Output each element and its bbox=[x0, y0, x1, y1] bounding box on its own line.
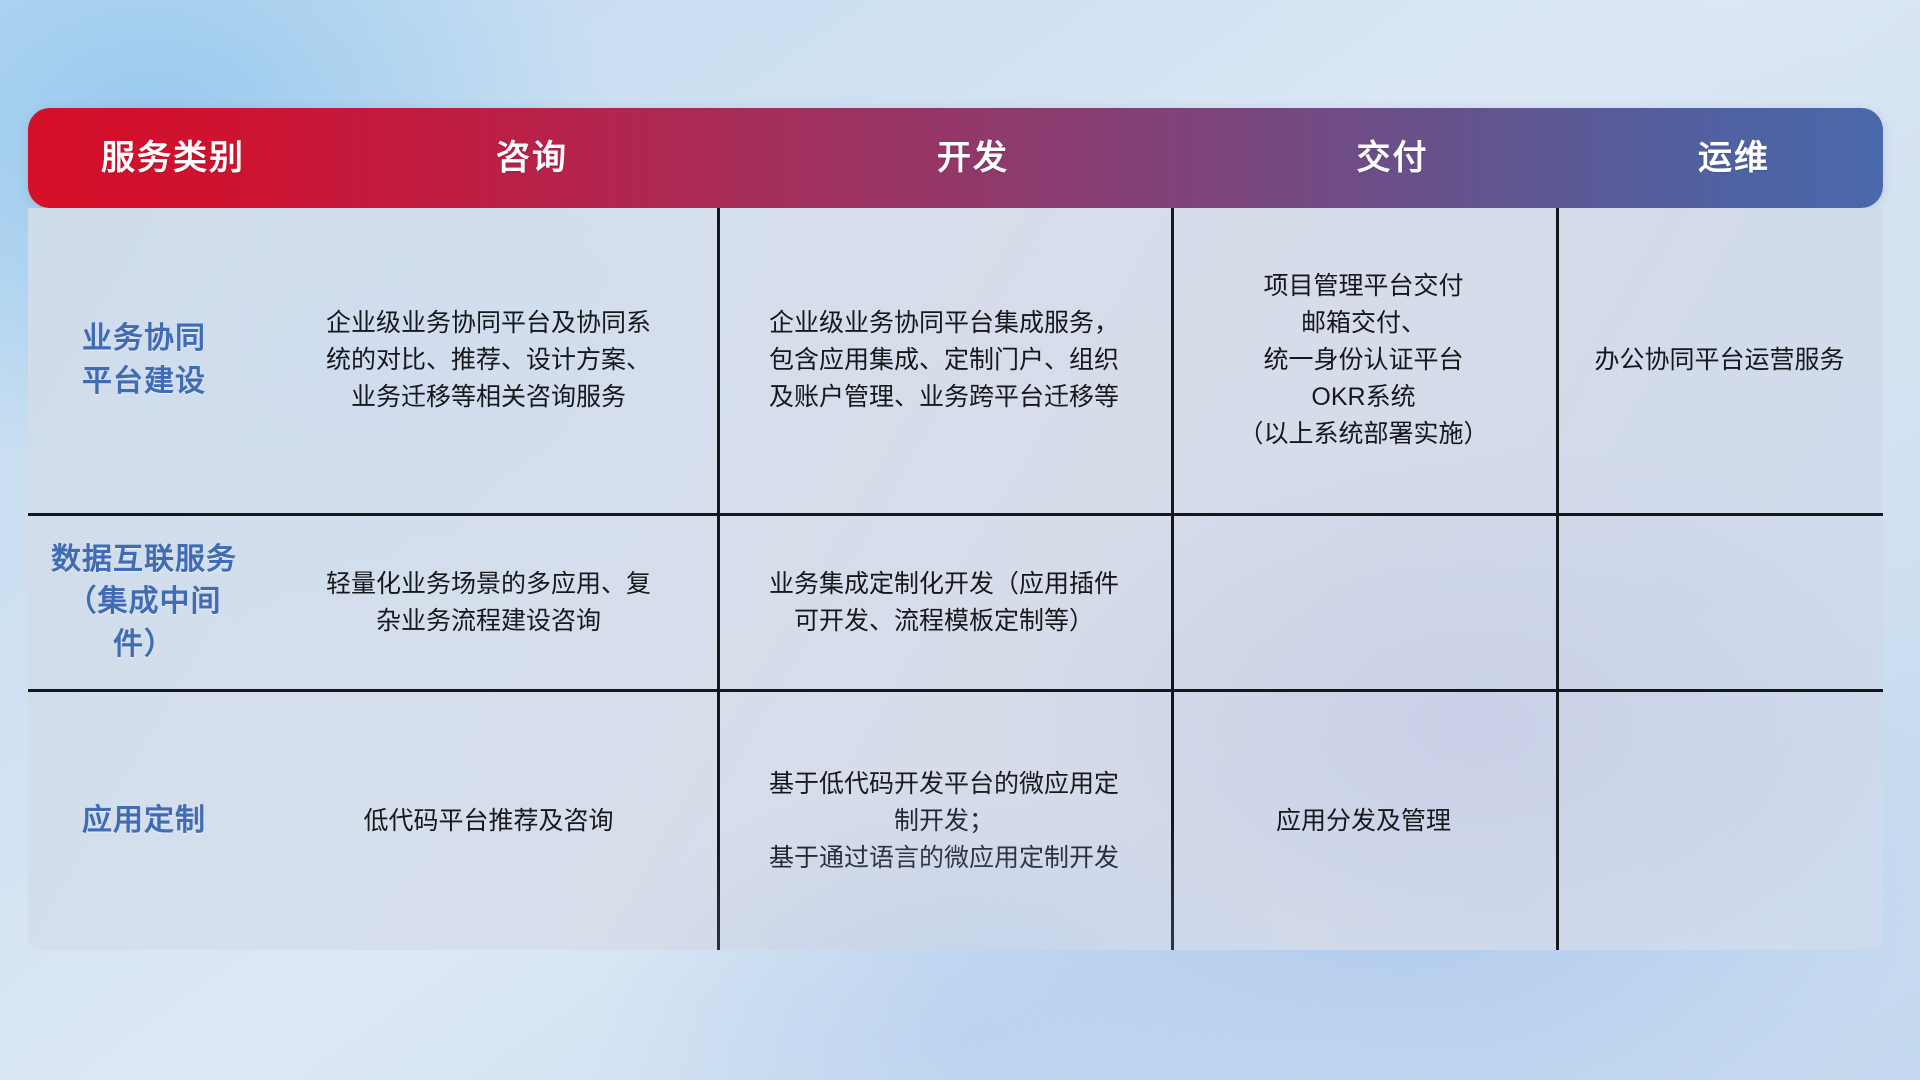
row-category-label: 数据互联服务 （集成中间件） bbox=[28, 516, 260, 689]
column-header-development: 开发 bbox=[746, 141, 1200, 175]
table-body: 业务协同 平台建设 企业级业务协同平台及协同系 统的对比、推荐、设计方案、 业务… bbox=[28, 208, 1883, 950]
slide-canvas: 服务类别 咨询 开发 交付 运维 业务协同 平台建设 企业级业务协同平台及协同系… bbox=[0, 0, 1920, 1080]
cell-delivery: 应用分发及管理 bbox=[1171, 692, 1556, 950]
column-header-consulting: 咨询 bbox=[318, 141, 746, 175]
cell-development: 基于低代码开发平台的微应用定 制开发； 基于通过语言的微应用定制开发 bbox=[717, 692, 1171, 950]
column-header-delivery: 交付 bbox=[1200, 141, 1585, 175]
service-matrix-table: 服务类别 咨询 开发 交付 运维 业务协同 平台建设 企业级业务协同平台及协同系… bbox=[28, 108, 1883, 950]
row-category-label: 业务协同 平台建设 bbox=[28, 208, 260, 513]
cell-development: 企业级业务协同平台集成服务， 包含应用集成、定制门户、组织 及账户管理、业务跨平… bbox=[717, 208, 1171, 513]
cell-consulting: 企业级业务协同平台及协同系 统的对比、推荐、设计方案、 业务迁移等相关咨询服务 bbox=[260, 208, 717, 513]
row-category-label: 应用定制 bbox=[28, 692, 260, 950]
cell-development: 业务集成定制化开发（应用插件 可开发、流程模板定制等） bbox=[717, 516, 1171, 689]
cell-delivery: 项目管理平台交付 邮箱交付、 统一身份认证平台 OKR系统 （以上系统部署实施） bbox=[1171, 208, 1556, 513]
cell-consulting: 轻量化业务场景的多应用、复 杂业务流程建设咨询 bbox=[260, 516, 717, 689]
cell-consulting: 低代码平台推荐及咨询 bbox=[260, 692, 717, 950]
table-row: 应用定制 低代码平台推荐及咨询 基于低代码开发平台的微应用定 制开发； 基于通过… bbox=[28, 692, 1883, 950]
table-row: 业务协同 平台建设 企业级业务协同平台及协同系 统的对比、推荐、设计方案、 业务… bbox=[28, 208, 1883, 513]
column-header-category: 服务类别 bbox=[28, 141, 318, 175]
cell-operations: 办公协同平台运营服务 bbox=[1556, 208, 1883, 513]
table-header-row: 服务类别 咨询 开发 交付 运维 bbox=[28, 108, 1883, 208]
cell-operations bbox=[1556, 692, 1883, 950]
cell-delivery bbox=[1171, 516, 1556, 689]
table-row: 数据互联服务 （集成中间件） 轻量化业务场景的多应用、复 杂业务流程建设咨询 业… bbox=[28, 516, 1883, 689]
cell-operations bbox=[1556, 516, 1883, 689]
column-header-operations: 运维 bbox=[1585, 141, 1883, 175]
